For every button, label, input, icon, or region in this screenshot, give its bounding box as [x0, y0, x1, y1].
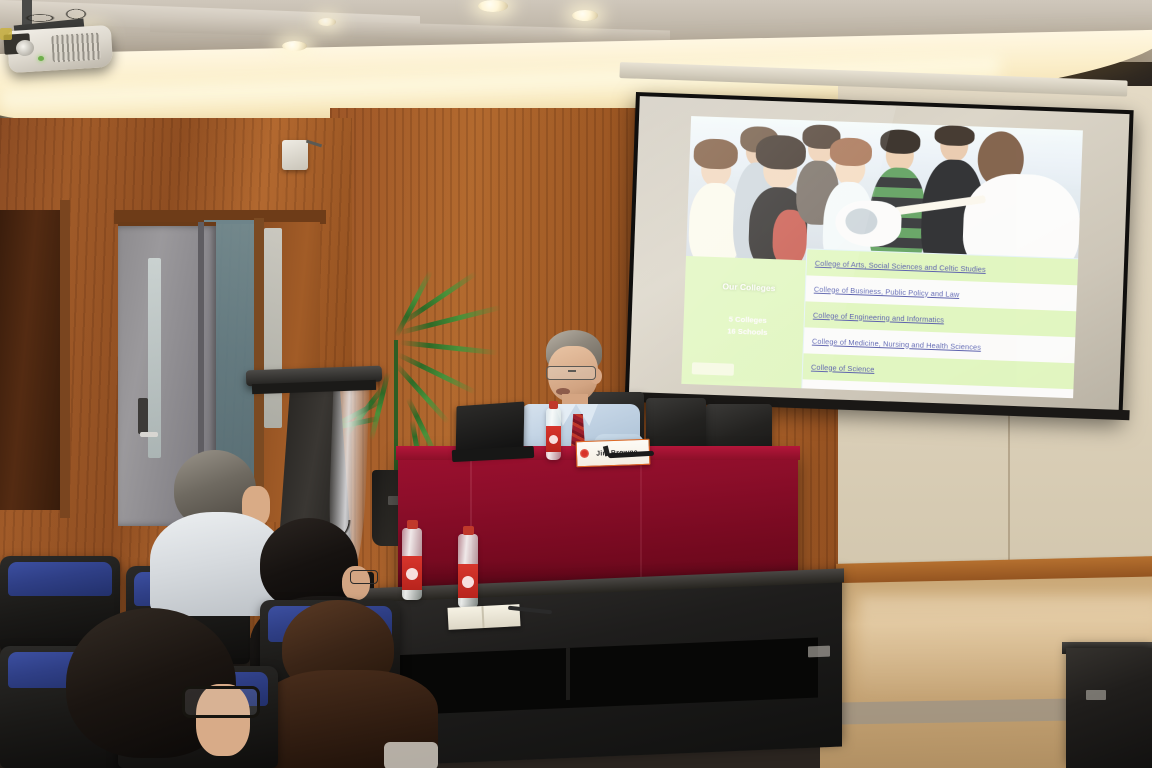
downlight-icon: [478, 0, 508, 12]
door-frosted-strip: [148, 258, 161, 458]
bottle-cap: [463, 526, 474, 535]
bottle-label: [458, 564, 478, 598]
downlight-icon: [282, 41, 307, 51]
downlight-icon: [318, 18, 336, 26]
door-frame: [60, 200, 70, 518]
glasses-icon: [546, 366, 596, 380]
glasses-icon: [182, 686, 260, 718]
projection-screen: Our Colleges 5 Colleges 16 Schools Colle…: [625, 92, 1134, 418]
lecture-hall-photo: Our Colleges 5 Colleges 16 Schools Colle…: [0, 0, 1152, 768]
water-bottle[interactable]: [402, 528, 422, 600]
downlight-icon: [572, 10, 598, 21]
glasses-bridge: [568, 370, 576, 372]
door-frosted-glass: [264, 228, 282, 428]
projector-connector: [0, 28, 12, 40]
placard-logo-icon: [580, 449, 589, 458]
desk-divider: [566, 648, 570, 700]
door-lock-icon[interactable]: [138, 398, 148, 434]
bottle-label: [402, 556, 422, 590]
glasses-icon: [350, 570, 378, 584]
bottle-label: [546, 426, 561, 452]
audience-member: [258, 600, 438, 768]
wall-panel-seam: [1008, 400, 1010, 570]
bottle-cap: [549, 401, 558, 409]
seat-cushion: [8, 562, 112, 596]
door-dark-wood[interactable]: [0, 210, 69, 510]
water-bottle[interactable]: [458, 534, 478, 608]
audience-collar: [384, 742, 438, 768]
water-bottle[interactable]: [546, 408, 561, 460]
side-desk: [1066, 648, 1152, 768]
screen-surface: Our Colleges 5 Colleges 16 Schools Colle…: [629, 96, 1130, 414]
wall-speaker-icon: [282, 140, 308, 170]
projector-status-led: [38, 56, 44, 61]
projector-vent-icon: [51, 33, 101, 63]
door-handle-icon[interactable]: [140, 432, 158, 437]
desk-label: [808, 646, 830, 658]
side-desk-label: [1086, 690, 1106, 700]
bottle-cap: [407, 520, 418, 529]
audience-member: [46, 608, 266, 768]
